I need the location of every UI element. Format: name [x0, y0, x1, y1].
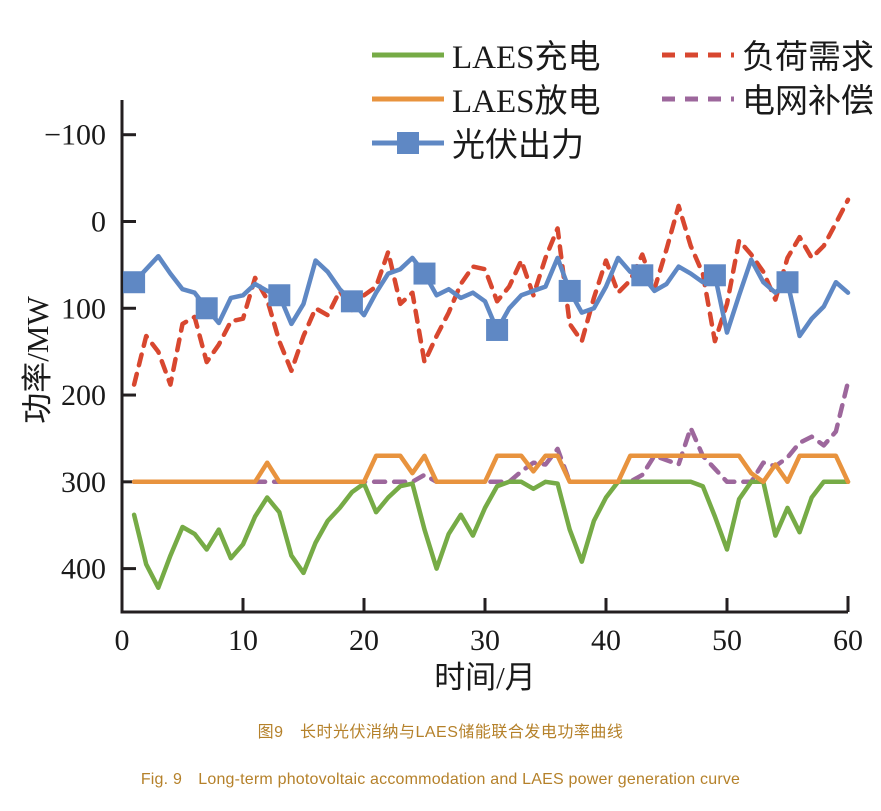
power-curve-chart: −1000100200300400 0102030405060 功率/MW 时间… [0, 0, 881, 700]
chart-area: −1000100200300400 0102030405060 功率/MW 时间… [0, 0, 881, 700]
y-tick-label: 200 [61, 379, 106, 412]
y-tick-label: 400 [61, 553, 106, 586]
y-axis-title: 功率/MW [20, 296, 55, 424]
x-tick-label: 30 [470, 624, 500, 657]
series-line-LAES充电 [134, 482, 848, 588]
legend-label-LAES放电: LAES放电 [452, 83, 601, 120]
series-marker-光伏出力 [486, 319, 508, 341]
series-marker-光伏出力 [414, 263, 436, 285]
legend-marker-光伏出力 [397, 132, 419, 154]
x-axis-title: 时间/月 [434, 660, 536, 695]
y-tick-label: 300 [61, 466, 106, 499]
axis-frame [122, 100, 848, 612]
figure-caption-chinese: 图9 长时光伏消纳与LAES储能联合发电功率曲线 [0, 718, 881, 742]
x-tick-label: 40 [591, 624, 621, 657]
figure-container: −1000100200300400 0102030405060 功率/MW 时间… [0, 0, 881, 811]
figure-caption-english: Fig. 9 Long-term photovoltaic accommodat… [0, 765, 881, 789]
series-marker-光伏出力 [341, 290, 363, 312]
y-axis-ticks [122, 135, 136, 569]
y-tick-label: 100 [61, 292, 106, 325]
series-marker-光伏出力 [123, 271, 145, 293]
x-axis-tick-labels: 0102030405060 [115, 624, 864, 657]
legend-label-LAES充电: LAES充电 [452, 39, 601, 76]
y-tick-label: 0 [91, 205, 106, 238]
series-marker-光伏出力 [777, 271, 799, 293]
legend-label-电网补偿: 电网补偿 [742, 83, 874, 120]
series-marker-光伏出力 [268, 284, 290, 306]
x-tick-label: 0 [115, 624, 130, 657]
x-tick-label: 60 [833, 624, 863, 657]
chart-legend: LAES充电LAES放电光伏出力负荷需求电网补偿 [372, 39, 874, 164]
x-tick-label: 50 [712, 624, 742, 657]
x-tick-label: 10 [228, 624, 258, 657]
series-layer [123, 200, 848, 588]
series-marker-光伏出力 [196, 297, 218, 319]
x-tick-label: 20 [349, 624, 379, 657]
legend-label-光伏出力: 光伏出力 [452, 127, 584, 164]
series-marker-光伏出力 [704, 264, 726, 286]
legend-label-负荷需求: 负荷需求 [742, 39, 874, 76]
series-marker-光伏出力 [559, 280, 581, 302]
series-line-LAES放电 [134, 456, 848, 482]
x-axis-ticks [243, 598, 727, 612]
series-marker-光伏出力 [631, 264, 653, 286]
y-tick-label: −100 [44, 119, 106, 152]
